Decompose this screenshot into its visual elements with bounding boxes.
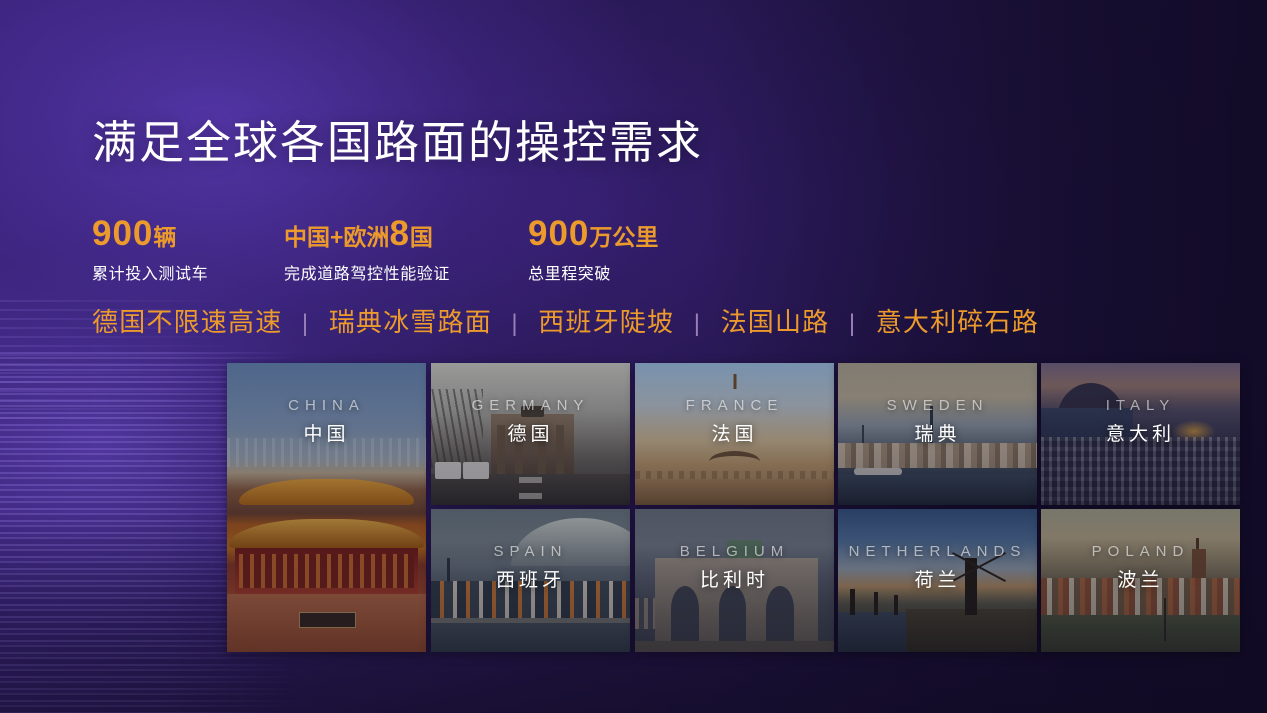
stat-value: 900辆 [92,216,208,251]
stat-value-unit: 辆 [153,224,176,250]
photo-scrim [431,509,630,652]
country-photo-grid: CHINA 中国 GERMANY 德国 [227,363,1240,652]
stat-value-unit: 国 [410,224,433,250]
stat-label: 累计投入测试车 [92,260,208,284]
stat-value-unit: 万公里 [589,224,658,250]
country-tile-france[interactable]: FRANCE 法国 [635,363,834,505]
country-tile-china[interactable]: CHINA 中国 [227,363,426,652]
country-tile-spain[interactable]: SPAIN 西班牙 [431,509,630,652]
stat-item-test-vehicles: 900辆 累计投入测试车 [92,216,208,284]
photo-scrim [635,509,834,652]
stat-item-mileage: 900万公里 总里程突破 [528,216,658,284]
photo-scrim [838,509,1037,652]
road-types-list: 德国不限速高速 | 瑞典冰雪路面 | 西班牙陡坡 | 法国山路 | 意大利碎石路 [92,302,1039,339]
page-title: 满足全球各国路面的操控需求 [92,116,703,169]
road-type-item: 德国不限速高速 [92,307,282,337]
photo-scrim [838,363,1037,505]
photo-scrim [227,363,426,652]
stat-value-number: 900 [528,214,589,253]
road-type-item: 意大利碎石路 [876,307,1039,337]
stat-value: 900万公里 [528,216,658,251]
stat-item-countries: 中国+欧洲8国 完成道路驾控性能验证 [284,216,450,284]
stat-value: 中国+欧洲8国 [284,216,450,251]
country-tile-germany[interactable]: GERMANY 德国 [431,363,630,505]
road-type-item: 法国山路 [721,307,830,337]
road-type-separator: | [511,310,518,337]
country-tile-italy[interactable]: ITALY 意大利 [1041,363,1240,505]
photo-scrim [1041,363,1240,505]
road-type-separator: | [694,310,701,337]
photo-scrim [635,363,834,505]
stat-label: 完成道路驾控性能验证 [284,260,450,284]
photo-scrim [431,363,630,505]
country-tile-poland[interactable]: POLAND 波兰 [1041,509,1240,652]
stat-label: 总里程突破 [528,260,658,284]
stat-value-number: 8 [389,214,409,253]
road-type-separator: | [302,310,309,337]
country-tile-belgium[interactable]: BELGIUM 比利时 [635,509,834,652]
road-type-separator: | [849,310,856,337]
photo-scrim [1041,509,1240,652]
stat-value-prefix: 中国+欧洲 [284,224,389,250]
country-tile-netherlands[interactable]: NETHERLANDS 荷兰 [838,509,1037,652]
road-type-item: 瑞典冰雪路面 [329,307,492,337]
slide-root: 满足全球各国路面的操控需求 900辆 累计投入测试车 中国+欧洲8国 完成道路驾… [0,0,1267,713]
country-tile-sweden[interactable]: SWEDEN 瑞典 [838,363,1037,505]
stat-value-number: 900 [92,214,153,253]
road-type-item: 西班牙陡坡 [538,307,674,337]
